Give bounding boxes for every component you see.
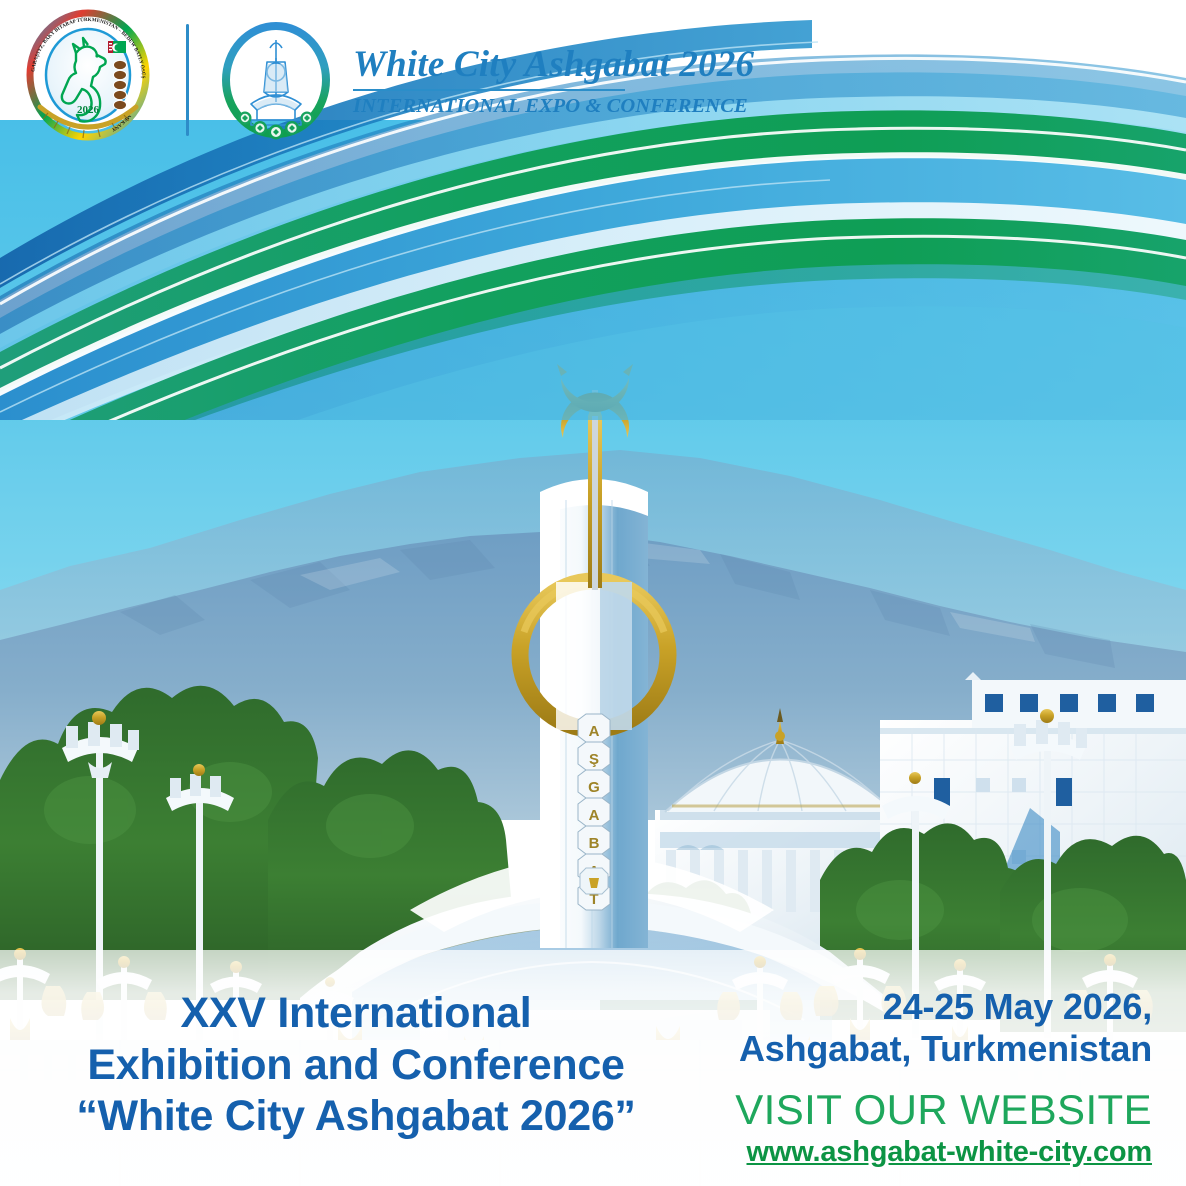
svg-text:G: G	[588, 779, 600, 796]
svg-text:B: B	[589, 835, 600, 852]
event-title-block: XXV International Exhibition and Confere…	[0, 950, 712, 1186]
expo-wordmark: White City Ashgabat 2026 INTERNATIONAL E…	[353, 42, 754, 119]
promotional-banner: A Ş G A B A T	[0, 0, 1186, 1186]
event-title-line-1: XXV International	[181, 988, 532, 1040]
emblem-year-label: 2026	[77, 104, 100, 116]
event-location: Ashgabat, Turkmenistan	[739, 1028, 1152, 1070]
turkmenistan-state-emblem-icon: GARAŞSYZ, BAKY BITARAP TÜRKMENISTAN – BE…	[14, 9, 162, 151]
svg-text:A: A	[589, 723, 600, 740]
wordmark-title: White City Ashgabat 2026	[353, 46, 754, 85]
bottom-info-bar: XXV International Exhibition and Confere…	[0, 950, 1186, 1186]
svg-text:A: A	[589, 807, 600, 824]
event-title-line-3: “White City Ashgabat 2026”	[76, 1091, 635, 1143]
header-divider	[186, 24, 189, 136]
website-url-link[interactable]: www.ashgabat-white-city.com	[747, 1137, 1153, 1169]
banner-header: GARAŞSYZ, BAKY BITARAP TÜRKMENISTAN – BE…	[0, 0, 1186, 160]
wordmark-subtitle: INTERNATIONAL EXPO & CONFERENCE	[353, 95, 754, 118]
wordmark-rule	[353, 89, 625, 91]
visit-website-label: VISIT OUR WEBSITE	[735, 1089, 1152, 1132]
svg-text:Ş: Ş	[589, 751, 599, 768]
event-date: 24-25 May 2026,	[883, 986, 1152, 1028]
event-title-line-2: Exhibition and Conference	[87, 1040, 624, 1092]
ashgabat-monument-ring-logo-icon	[217, 18, 335, 142]
event-details-block: 24-25 May 2026, Ashgabat, Turkmenistan V…	[712, 950, 1186, 1186]
